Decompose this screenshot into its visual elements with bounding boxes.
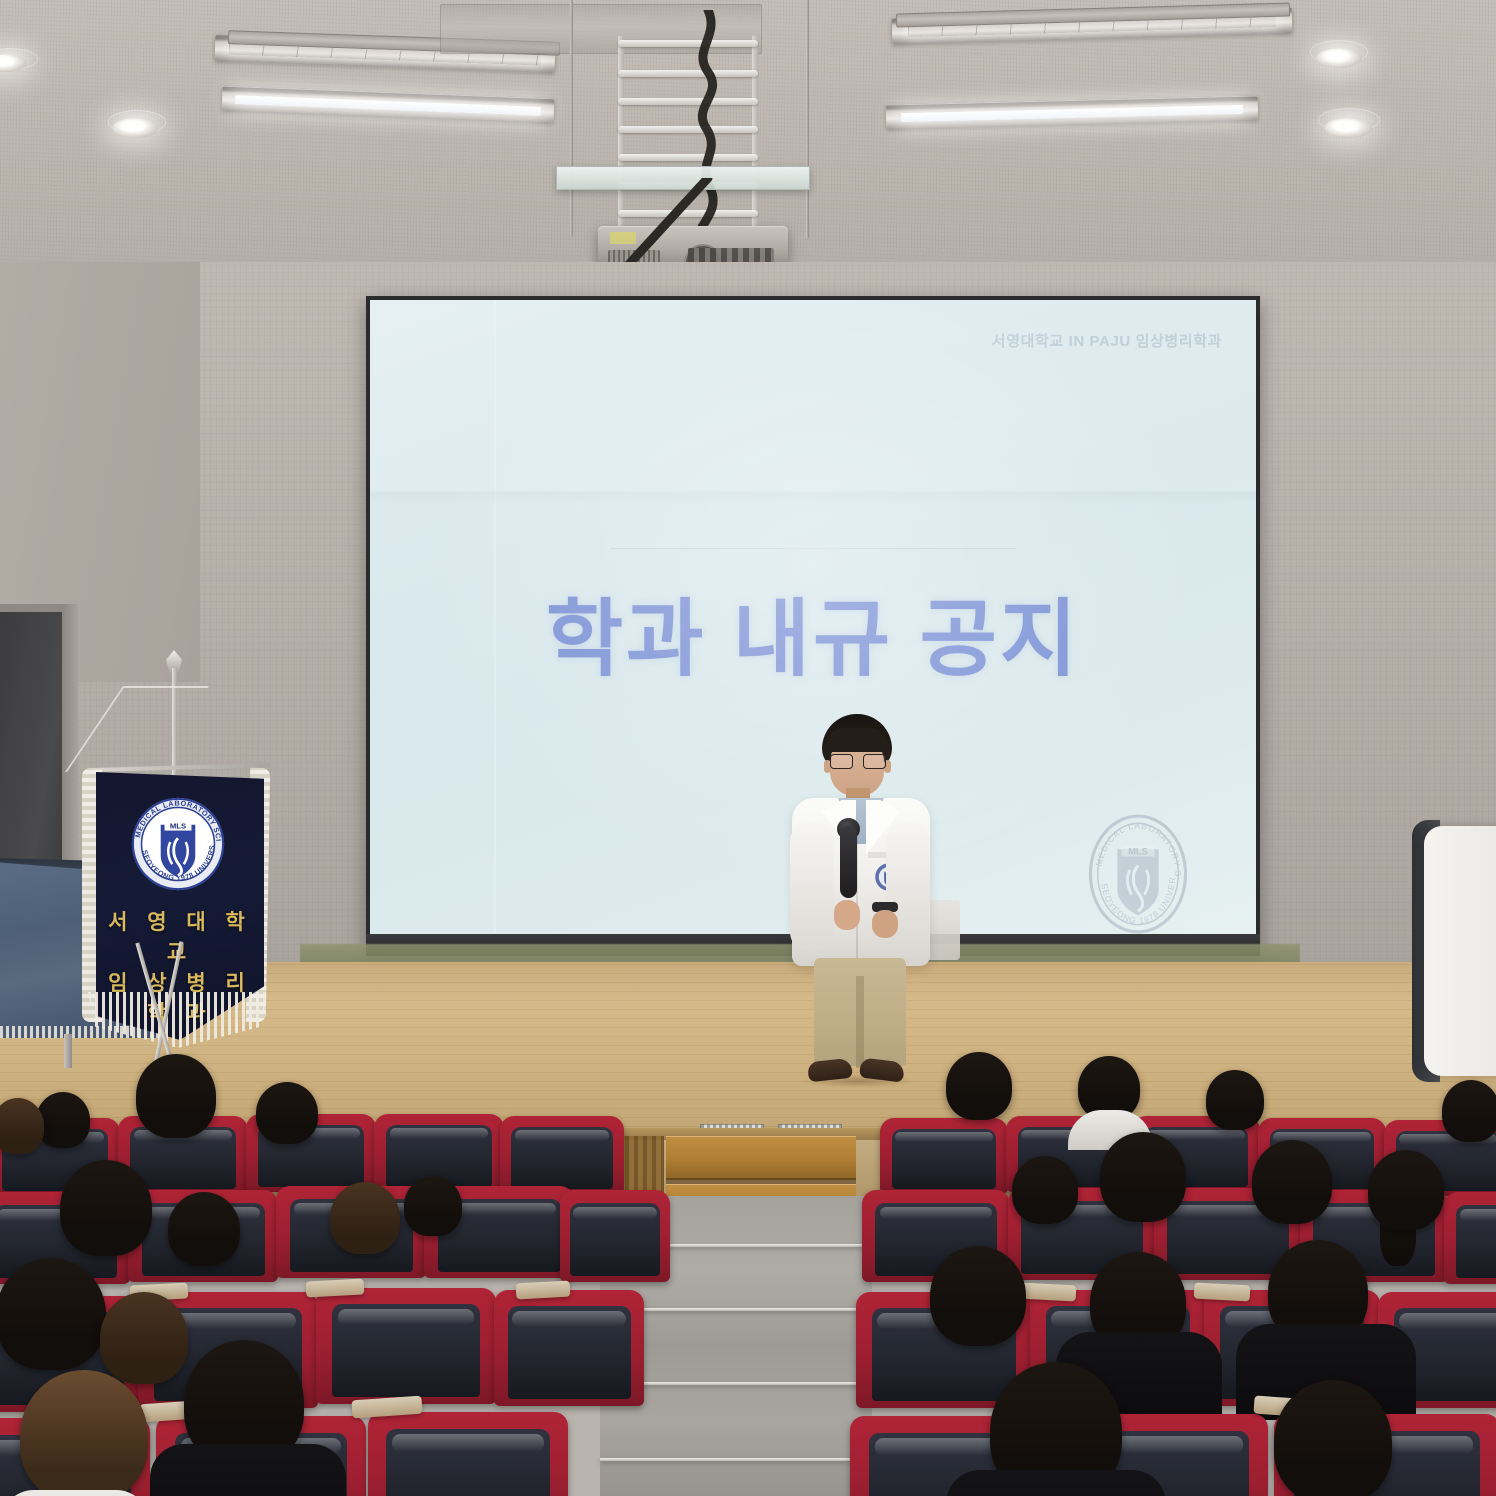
stand-cord <box>65 686 209 772</box>
audience-head <box>1206 1070 1264 1130</box>
audience-head <box>100 1292 188 1384</box>
seat[interactable] <box>880 1118 1008 1194</box>
slide-header: 서영대학교 IN PAJU 임상병리학과 <box>992 330 1222 351</box>
presenter-hair-front <box>826 728 888 752</box>
audience-head <box>930 1246 1026 1346</box>
seat[interactable] <box>494 1290 644 1406</box>
armrest <box>1020 1283 1077 1302</box>
audience-head <box>1442 1080 1496 1142</box>
audience-head <box>330 1182 400 1254</box>
whiteboard[interactable] <box>1424 826 1496 1076</box>
svg-text:MLS: MLS <box>170 822 186 831</box>
armrest <box>516 1281 571 1300</box>
audience-head <box>946 1052 1012 1120</box>
seat[interactable] <box>316 1288 496 1404</box>
audience-head <box>0 1258 106 1370</box>
seat[interactable] <box>560 1190 670 1282</box>
microphone[interactable] <box>840 826 857 898</box>
armrest <box>306 1278 365 1297</box>
audience-head <box>136 1054 216 1138</box>
slide-title: 학과 내규 공지 <box>370 572 1256 693</box>
pennant-stand: MEDICAL LABORATORY SCIENCE SEOYEONG 1978… <box>86 640 286 1100</box>
seat[interactable] <box>368 1412 568 1496</box>
audience-head <box>168 1192 240 1266</box>
presenter-hand-right <box>872 910 898 938</box>
audience-head <box>36 1092 90 1148</box>
presenter-hand-left <box>834 900 860 930</box>
presenter: MLS <box>786 714 936 1088</box>
audience-head <box>60 1160 152 1256</box>
audience-head <box>1012 1156 1078 1224</box>
audience-head <box>1274 1380 1392 1496</box>
presenter-arm-right <box>886 822 930 958</box>
downlight-right <box>1316 48 1362 68</box>
slide-divider-rule <box>610 548 1016 549</box>
light-tube <box>901 105 1243 122</box>
audience-head <box>0 1098 44 1154</box>
seat[interactable] <box>1444 1192 1496 1284</box>
downlight-left <box>112 118 158 138</box>
slide-watermark-crest-icon: MEDICAL LABORATORY SCIENCE SEOYEONG 1978… <box>1086 812 1190 934</box>
audience-head <box>1100 1132 1186 1222</box>
downlight-right-lower <box>1324 118 1372 138</box>
audience-head <box>1252 1140 1332 1224</box>
suspension-rod-left <box>570 0 573 180</box>
audience-seating <box>0 1040 1496 1496</box>
audience-shoulder <box>946 1470 1166 1496</box>
suspension-rod-right-lower <box>806 184 809 238</box>
audience-shoulder <box>150 1444 346 1496</box>
auditorium-photo: 서영대학교 IN PAJU 임상병리학과 학과 내규 공지 MEDICAL LA… <box>0 0 1496 1496</box>
audience-head <box>1368 1150 1444 1230</box>
presenter-arm-left <box>790 822 834 952</box>
suspension-rod-right <box>806 0 809 176</box>
suspension-rod-left-lower <box>570 186 573 236</box>
glasses-icon <box>830 754 884 767</box>
pennant-crest-icon: MEDICAL LABORATORY SCIENCE SEOYEONG 1978… <box>130 796 226 892</box>
audience-head <box>20 1370 148 1496</box>
audience-head <box>256 1082 318 1144</box>
seat[interactable] <box>500 1116 624 1194</box>
armrest <box>1194 1283 1251 1302</box>
audience-head <box>404 1176 462 1236</box>
svg-text:MLS: MLS <box>1128 846 1148 856</box>
